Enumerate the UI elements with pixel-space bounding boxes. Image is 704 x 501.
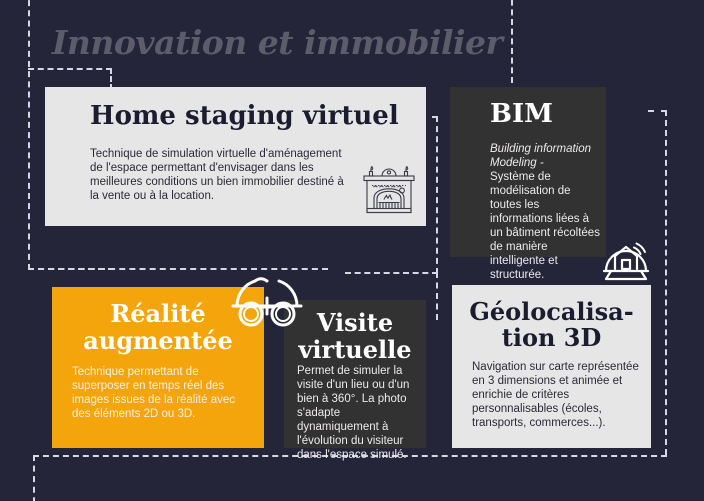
card-body-bim: Building information Modeling - Système … bbox=[490, 142, 602, 282]
card-body-visite-virtuelle: Permet de simuler la visite d'un lieu ou… bbox=[297, 364, 417, 462]
card-title-geolocalisation-3d: Géolocalisa- tion 3D bbox=[452, 299, 651, 352]
card-bim: BIM Building information Modeling - Syst… bbox=[450, 87, 606, 257]
dashed-line-left-bottom bbox=[28, 268, 328, 270]
card-subtitle-bim: Building information Modeling - bbox=[490, 142, 602, 170]
card-title-bim: BIM bbox=[490, 101, 553, 127]
dashed-line-middle-drop bbox=[436, 272, 438, 320]
page-title: Innovation et immobilier bbox=[52, 23, 502, 62]
dashed-line-above-bim bbox=[511, 0, 513, 83]
dashed-line-right-vertical bbox=[665, 110, 667, 455]
dashed-line-right-top bbox=[648, 110, 667, 112]
vr-goggles-icon bbox=[228, 276, 306, 335]
card-geolocalisation-3d: Géolocalisa- tion 3D Navigation sur cart… bbox=[452, 285, 651, 448]
card-title-home-staging: Home staging virtuel bbox=[90, 103, 399, 129]
card-home-staging: Home staging virtuel Technique de simula… bbox=[45, 87, 426, 226]
house-dome-icon bbox=[598, 231, 654, 292]
dashed-line-title-underline bbox=[28, 68, 112, 70]
card-body-geolocalisation-3d: Navigation sur carte représentée en 3 di… bbox=[472, 360, 647, 430]
fireplace-icon bbox=[360, 165, 418, 220]
card-body-home-staging: Technique de simulation virtuelle d'amén… bbox=[90, 147, 350, 203]
card-body-text-bim: Système de modélisation de toutes les in… bbox=[490, 171, 600, 281]
infographic-canvas: Innovation et immobilier Home staging vi… bbox=[0, 0, 704, 501]
card-body-realite-augmentee: Technique permettant de superposer en te… bbox=[72, 365, 250, 421]
dashed-line-middle-bottom bbox=[345, 272, 438, 274]
